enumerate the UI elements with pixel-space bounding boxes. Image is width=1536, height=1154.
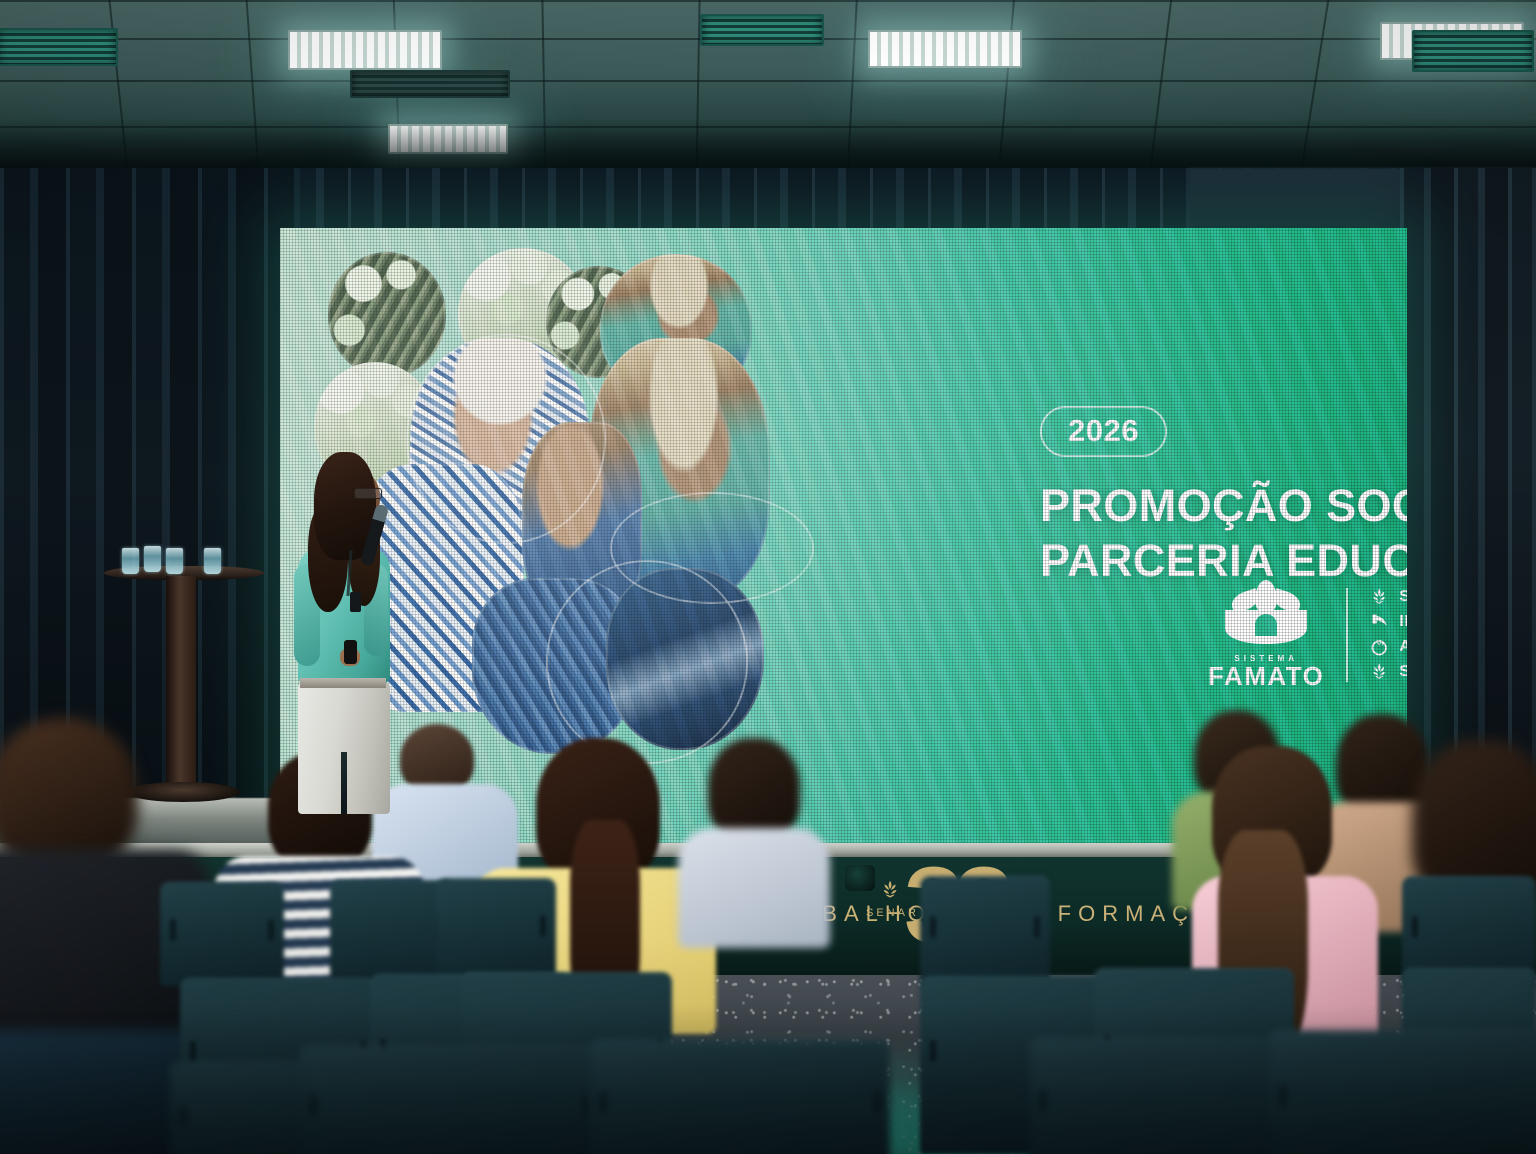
ceiling <box>0 0 1536 178</box>
presenter <box>292 452 396 812</box>
ceiling-light-panel <box>288 30 442 70</box>
presenter-phone <box>344 640 357 664</box>
auditorium-seat <box>300 1046 600 1154</box>
ceiling-air-vent <box>350 70 510 98</box>
auditorium-seat <box>590 1040 890 1154</box>
water-glass <box>204 548 221 574</box>
audience <box>0 700 1536 1154</box>
water-glass <box>144 546 161 572</box>
presenter-skirt-slit <box>341 752 347 814</box>
auditorium-photo: 2026 PROMOÇÃO SOCIAL PARCERIA EDUCACIONA… <box>0 0 1536 1154</box>
auditorium-seat <box>160 882 284 986</box>
auditorium-seat <box>1270 1030 1536 1154</box>
ceiling-air-vent <box>700 14 824 46</box>
presenter-glasses-icon <box>354 488 382 499</box>
audience-member-body <box>678 828 830 948</box>
water-glass <box>122 548 139 574</box>
ceiling-air-vent <box>1412 30 1534 72</box>
presenter-badge <box>350 592 361 612</box>
ceiling-light-panel <box>868 30 1022 68</box>
water-glass <box>166 548 183 574</box>
auditorium-seat <box>436 878 556 982</box>
audience-member-head <box>708 738 800 842</box>
ceiling-air-vent <box>0 28 118 66</box>
auditorium-seat <box>920 876 1050 986</box>
audience-member-head <box>0 718 138 870</box>
presenter-belt <box>300 678 386 688</box>
